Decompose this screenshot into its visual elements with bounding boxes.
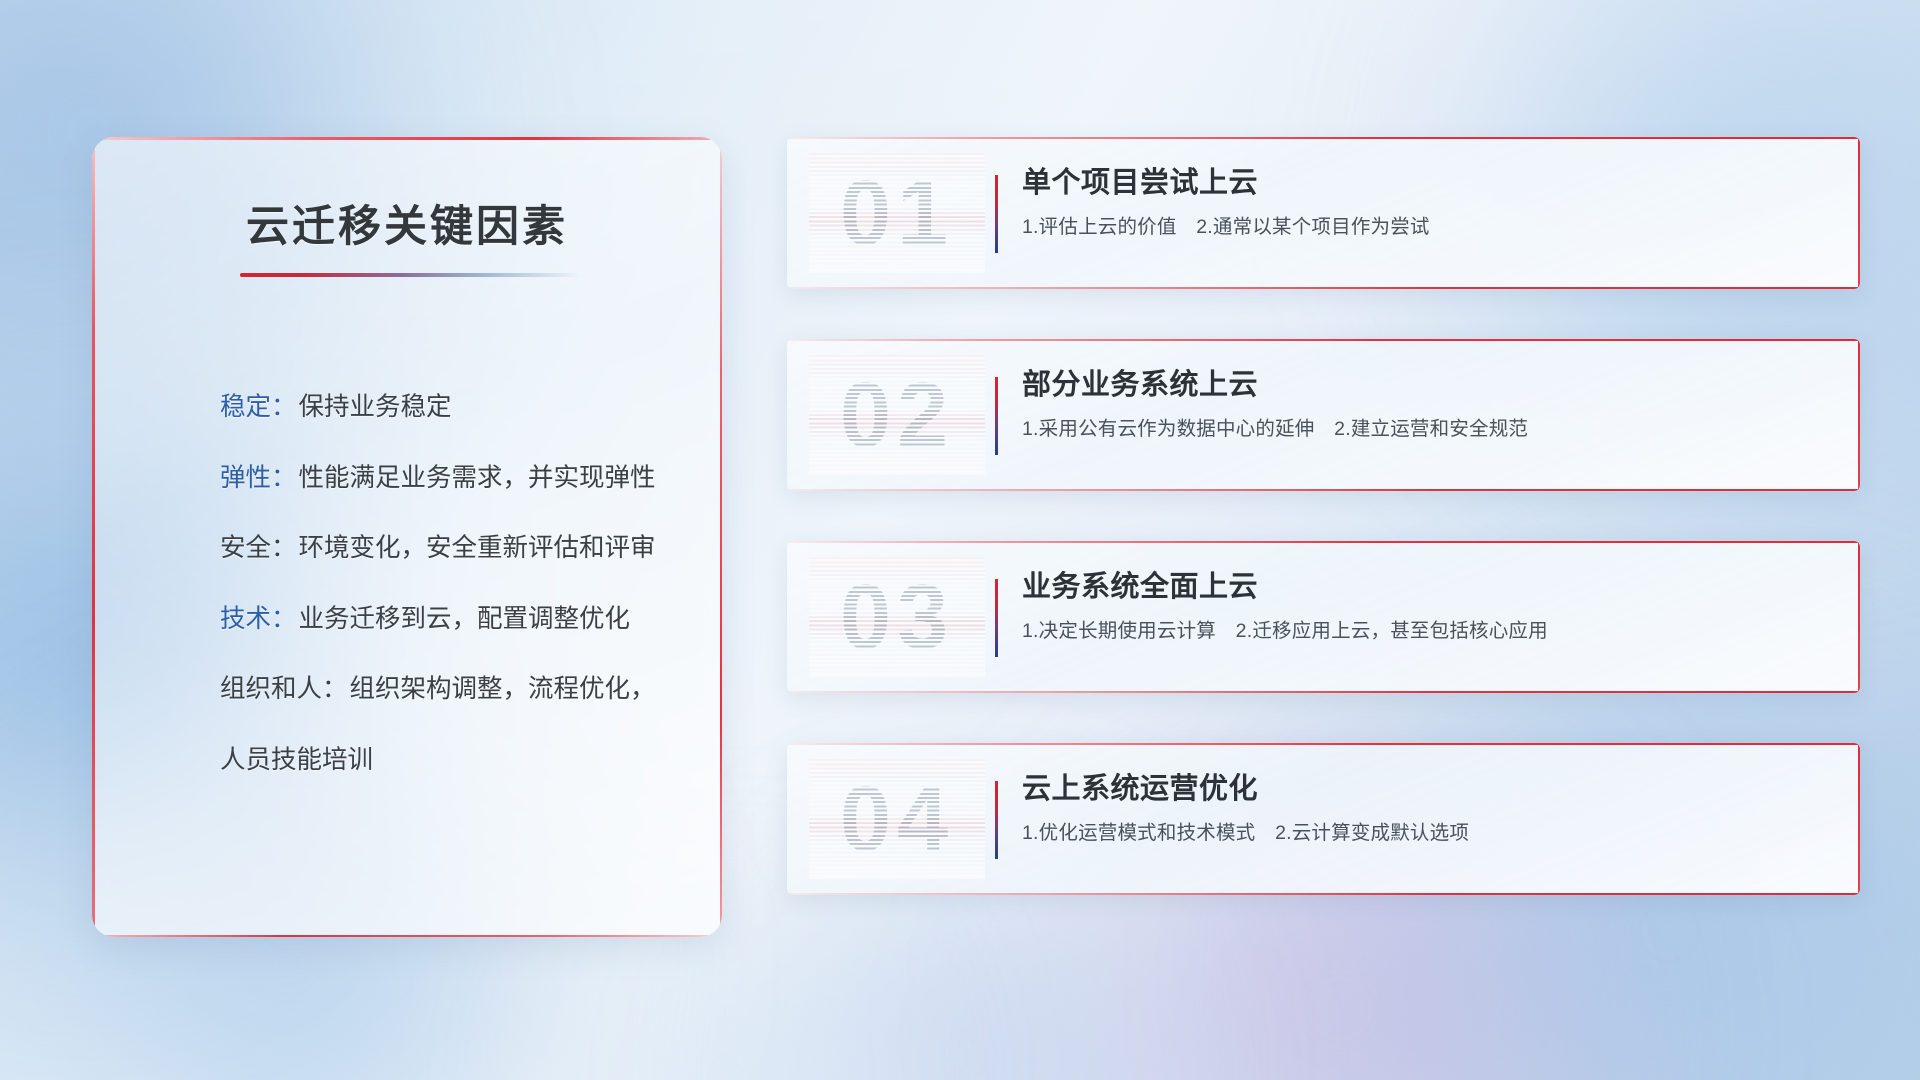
card-top-border xyxy=(787,743,1860,745)
page-title: 云迁移关键因素 xyxy=(92,192,722,254)
card-divider xyxy=(995,579,998,657)
list-item: 安全：环境变化，安全重新评估和评审 xyxy=(220,536,682,562)
card-body: 业务系统全面上云 1.决定长期使用云计算 2.迁移应用上云，甚至包括核心应用 xyxy=(1022,571,1832,644)
stage-number: 04 xyxy=(809,759,985,879)
card-title: 云上系统运营优化 xyxy=(1022,773,1832,806)
factor-text: 人员技能培训 xyxy=(220,746,373,774)
stage-card[interactable]: 04 云上系统运营优化 1.优化运营模式和技术模式 2.云计算变成默认选项 xyxy=(787,743,1860,895)
card-bottom-border xyxy=(787,287,1860,289)
card-body: 部分业务系统上云 1.采用公有云作为数据中心的延伸 2.建立运营和安全规范 xyxy=(1022,369,1832,442)
stage-number-glyph: 02 xyxy=(809,355,985,475)
stage-number-glyph: 04 xyxy=(809,759,985,879)
title-underline xyxy=(240,273,580,277)
card-top-border xyxy=(787,339,1860,341)
factor-label: 稳定： xyxy=(220,393,297,421)
factor-label: 组织和人： xyxy=(220,675,348,703)
list-item: 稳定：保持业务稳定 xyxy=(220,395,682,421)
card-title: 部分业务系统上云 xyxy=(1022,369,1832,402)
card-bottom-border xyxy=(787,489,1860,491)
card-description: 1.决定长期使用云计算 2.迁移应用上云，甚至包括核心应用 xyxy=(1022,619,1832,643)
card-divider xyxy=(995,377,998,455)
factor-label: 弹性： xyxy=(220,464,297,492)
stage-number: 01 xyxy=(809,153,985,273)
panel-bottom-border xyxy=(92,935,722,938)
card-bottom-border xyxy=(787,893,1860,895)
card-right-border xyxy=(1858,137,1860,289)
list-item: 弹性：性能满足业务需求，并实现弹性 xyxy=(220,466,682,492)
card-divider xyxy=(995,175,998,253)
factor-text: 性能满足业务需求，并实现弹性 xyxy=(299,464,656,492)
key-factors-panel: 云迁移关键因素 稳定：保持业务稳定 弹性：性能满足业务需求，并实现弹性 安全：环… xyxy=(92,137,722,937)
card-bottom-border xyxy=(787,691,1860,693)
stage-number-glyph: 03 xyxy=(809,557,985,677)
card-description: 1.评估上云的价值 2.通常以某个项目作为尝试 xyxy=(1022,215,1832,239)
list-item: 人员技能培训 xyxy=(220,748,682,774)
factor-list: 稳定：保持业务稳定 弹性：性能满足业务需求，并实现弹性 安全：环境变化，安全重新… xyxy=(220,395,682,773)
card-top-border xyxy=(787,541,1860,543)
card-right-border xyxy=(1858,743,1860,895)
factor-text: 业务迁移到云，配置调整优化 xyxy=(299,605,631,633)
card-divider xyxy=(995,781,998,859)
factor-text: 组织架构调整，流程优化， xyxy=(350,675,656,703)
stage-number: 02 xyxy=(809,355,985,475)
card-top-border xyxy=(787,137,1860,139)
list-item: 组织和人：组织架构调整，流程优化， xyxy=(220,677,682,703)
stage-card[interactable]: 01 单个项目尝试上云 1.评估上云的价值 2.通常以某个项目作为尝试 xyxy=(787,137,1860,289)
stage-card-list: 01 单个项目尝试上云 1.评估上云的价值 2.通常以某个项目作为尝试 02 部… xyxy=(787,137,1860,895)
card-description: 1.采用公有云作为数据中心的延伸 2.建立运营和安全规范 xyxy=(1022,417,1832,441)
factor-text: 保持业务稳定 xyxy=(299,393,452,421)
stage-card[interactable]: 03 业务系统全面上云 1.决定长期使用云计算 2.迁移应用上云，甚至包括核心应… xyxy=(787,541,1860,693)
card-right-border xyxy=(1858,541,1860,693)
card-body: 单个项目尝试上云 1.评估上云的价值 2.通常以某个项目作为尝试 xyxy=(1022,167,1832,240)
list-item: 技术：业务迁移到云，配置调整优化 xyxy=(220,607,682,633)
card-title: 单个项目尝试上云 xyxy=(1022,167,1832,200)
card-body: 云上系统运营优化 1.优化运营模式和技术模式 2.云计算变成默认选项 xyxy=(1022,773,1832,846)
factor-label: 技术： xyxy=(220,605,297,633)
factor-label: 安全： xyxy=(220,534,297,562)
card-right-border xyxy=(1858,339,1860,491)
factor-text: 环境变化，安全重新评估和评审 xyxy=(299,534,656,562)
card-title: 业务系统全面上云 xyxy=(1022,571,1832,604)
stage-number-glyph: 01 xyxy=(809,153,985,273)
panel-top-border xyxy=(92,137,722,140)
stage-number: 03 xyxy=(809,557,985,677)
stage-card[interactable]: 02 部分业务系统上云 1.采用公有云作为数据中心的延伸 2.建立运营和安全规范 xyxy=(787,339,1860,491)
card-description: 1.优化运营模式和技术模式 2.云计算变成默认选项 xyxy=(1022,821,1832,845)
